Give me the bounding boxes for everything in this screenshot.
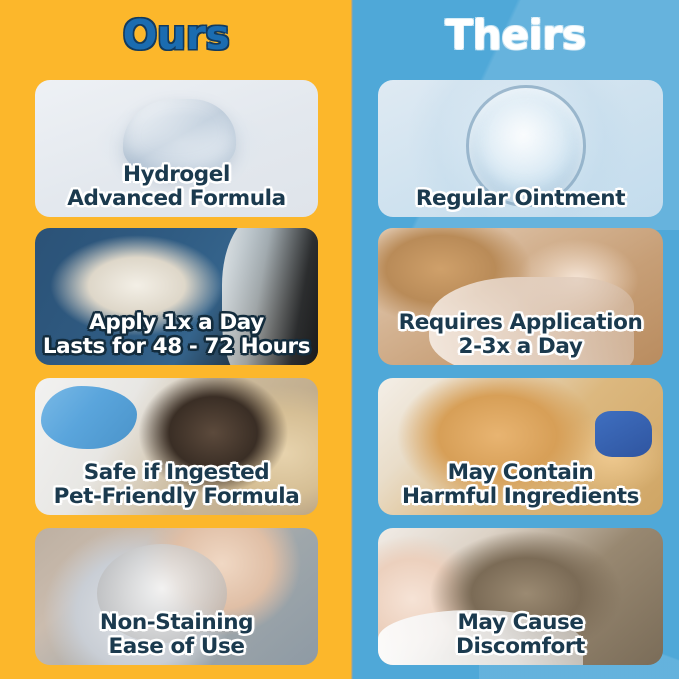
theirs-card-2[interactable]: Requires Application 2-3x a Day — [378, 228, 663, 365]
ours-card-4[interactable]: Non-Staining Ease of Use — [35, 528, 318, 665]
ours-card-1-caption: Hydrogel Advanced Formula — [39, 163, 314, 210]
ours-card-2-caption: Apply 1x a Day Lasts for 48 - 72 Hours — [39, 311, 314, 358]
theirs-column-heading: Theirs — [352, 14, 679, 57]
theirs-card-1[interactable]: Regular Ointment — [378, 80, 663, 217]
theirs-card-2-caption: Requires Application 2-3x a Day — [382, 311, 659, 358]
ours-card-2[interactable]: Apply 1x a Day Lasts for 48 - 72 Hours — [35, 228, 318, 365]
theirs-card-3[interactable]: May Contain Harmful Ingredients — [378, 378, 663, 515]
ours-card-3-caption: Safe if Ingested Pet-Friendly Formula — [39, 461, 314, 508]
ours-card-1[interactable]: Hydrogel Advanced Formula — [35, 80, 318, 217]
ours-card-4-caption: Non-Staining Ease of Use — [39, 611, 314, 658]
theirs-card-4[interactable]: May Cause Discomfort — [378, 528, 663, 665]
column-divider — [351, 0, 353, 679]
comparison-infographic: Ours Theirs Hydrogel Advanced Formula Ap… — [0, 0, 679, 679]
ours-card-3[interactable]: Safe if Ingested Pet-Friendly Formula — [35, 378, 318, 515]
ours-column-heading: Ours — [0, 14, 352, 57]
theirs-card-4-caption: May Cause Discomfort — [382, 611, 659, 658]
theirs-card-3-caption: May Contain Harmful Ingredients — [382, 461, 659, 508]
theirs-card-1-caption: Regular Ointment — [382, 187, 659, 210]
